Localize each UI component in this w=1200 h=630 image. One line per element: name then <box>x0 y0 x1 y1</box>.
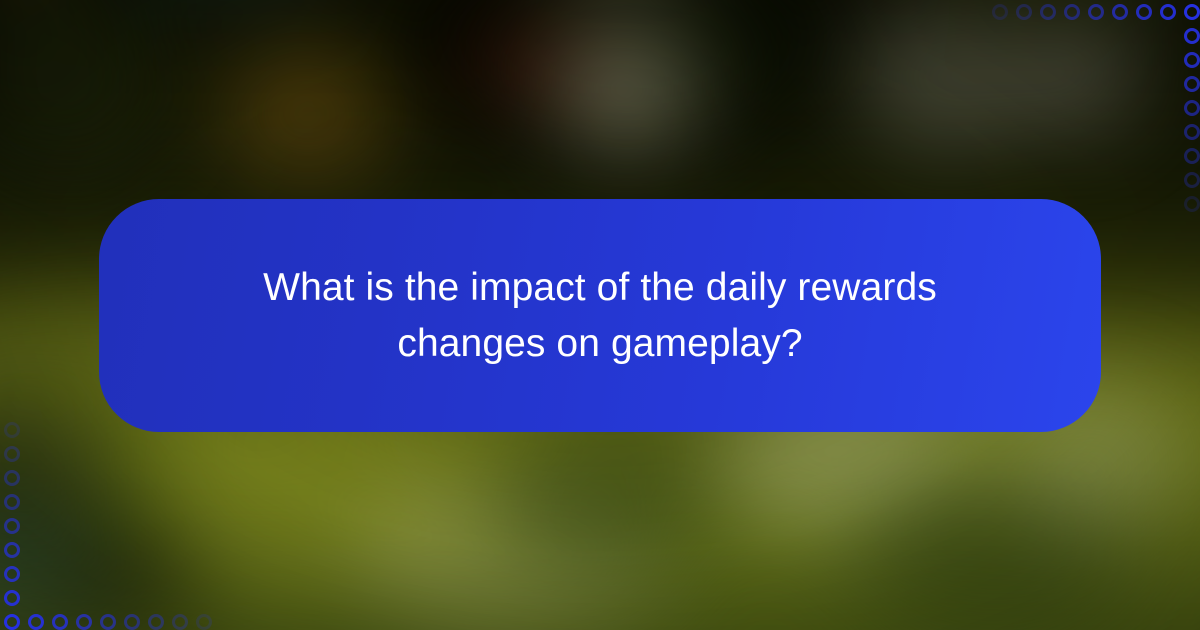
decorative-dots-top-right <box>1000 0 1200 200</box>
decorative-dot <box>1136 4 1152 20</box>
decorative-dot <box>1184 76 1200 92</box>
decorative-dots-bottom-left <box>0 430 200 630</box>
decorative-dot <box>1184 196 1200 212</box>
decorative-dot <box>196 614 212 630</box>
decorative-dot <box>1040 4 1056 20</box>
decorative-dot <box>1160 4 1176 20</box>
decorative-dot <box>4 614 20 630</box>
decorative-dot <box>76 614 92 630</box>
decorative-dot <box>992 4 1008 20</box>
decorative-dot <box>172 614 188 630</box>
decorative-dot <box>148 614 164 630</box>
decorative-dot <box>1064 4 1080 20</box>
decorative-dot <box>4 542 20 558</box>
question-card: What is the impact of the daily rewards … <box>99 199 1101 432</box>
decorative-dot <box>4 422 20 438</box>
decorative-dot <box>1184 124 1200 140</box>
decorative-dot <box>1184 148 1200 164</box>
decorative-dot <box>1016 4 1032 20</box>
decorative-dot <box>1184 28 1200 44</box>
decorative-dot <box>1112 4 1128 20</box>
decorative-dot <box>124 614 140 630</box>
decorative-dot <box>4 590 20 606</box>
decorative-dot <box>4 494 20 510</box>
decorative-dot <box>1184 52 1200 68</box>
decorative-dot <box>1184 4 1200 20</box>
decorative-dot <box>28 614 44 630</box>
question-text: What is the impact of the daily rewards … <box>250 260 950 371</box>
decorative-dot <box>1184 172 1200 188</box>
decorative-dot <box>1088 4 1104 20</box>
decorative-dot <box>52 614 68 630</box>
decorative-dot <box>4 446 20 462</box>
decorative-dot <box>4 518 20 534</box>
screenshot-canvas: What is the impact of the daily rewards … <box>0 0 1200 630</box>
decorative-dot <box>4 566 20 582</box>
decorative-dot <box>4 470 20 486</box>
decorative-dot <box>1184 100 1200 116</box>
decorative-dot <box>100 614 116 630</box>
